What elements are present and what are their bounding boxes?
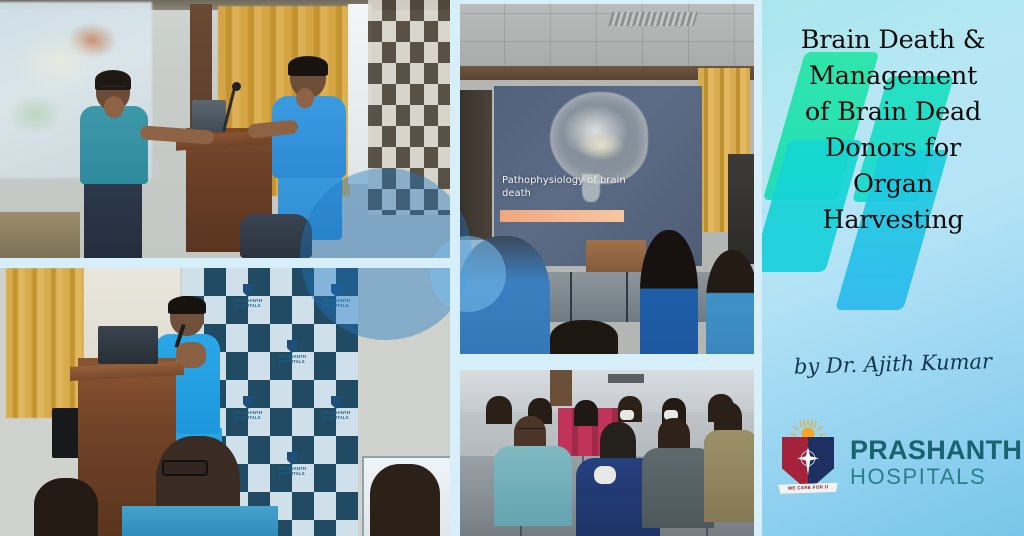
poster-root: PRASHANTH HOSPITALS PRASHANTH HOSPITALS … (0, 0, 1024, 536)
presenter-a-hand (104, 96, 124, 118)
backdrop-shield-icon (243, 396, 253, 409)
page-title: Brain Death & Management of Brain Dead D… (768, 22, 1018, 238)
attendee-glasses (518, 428, 544, 436)
brain-illustration (550, 92, 648, 184)
attendee-torso (494, 446, 572, 526)
photo-bottom-right (458, 370, 754, 536)
slide-title: Pathophysiology of brain death (502, 174, 632, 200)
audience-head (550, 320, 618, 354)
ceiling-tiles (458, 4, 754, 70)
foreground-attendee-torso (122, 506, 278, 536)
collage-separator (450, 354, 762, 370)
foreground-attendee-head (370, 464, 440, 536)
photo-center: Pathophysiology of brain death (458, 4, 754, 354)
title-line: Brain Death & (768, 22, 1018, 58)
microphone-head (232, 82, 241, 91)
brand-name: PRASHANTH (850, 437, 1022, 464)
branding-checkerboard (368, 0, 450, 215)
brand-wordmark: PRASHANTH HOSPITALS (850, 437, 1022, 488)
presenter-b-hair (288, 56, 328, 76)
photo-bottom-left: PRASHANTH HOSPITALS PRASHANTH HOSPITALS … (0, 268, 450, 536)
title-line: Donors for (768, 130, 1018, 166)
collage-separator (450, 0, 460, 536)
wall-column (550, 370, 572, 406)
audience-member (640, 230, 698, 354)
speaker-hair (168, 296, 206, 314)
attendee-head (574, 400, 598, 426)
title-line: Organ (768, 166, 1018, 202)
wall-sign (608, 374, 644, 383)
photo-top-left (0, 0, 450, 258)
backdrop-brand-sub: HOSPITALS (279, 471, 304, 476)
backdrop-shield-icon (331, 284, 341, 297)
attendee-torso (704, 430, 754, 522)
title-line: Harvesting (768, 202, 1018, 238)
hospital-crest-icon: WE CARE FOR U (776, 419, 840, 505)
equipment-bag (240, 214, 312, 258)
face-mask (594, 466, 616, 484)
backdrop-shield-icon (287, 340, 297, 353)
presenter-b-torso (272, 96, 346, 178)
ceiling-vent (608, 12, 698, 26)
presenter-a-legs (84, 180, 142, 258)
laptop (192, 100, 226, 132)
audience-member (706, 250, 754, 354)
foreground-attendee-glasses (162, 460, 208, 476)
collage-separator (0, 258, 452, 268)
gold-curtain (6, 268, 84, 418)
foreground-attendee-head (34, 478, 98, 536)
foreground-table (0, 212, 80, 258)
audience-member-foreground (458, 236, 550, 354)
backdrop-shield-icon (287, 452, 297, 465)
brand-subtitle: HOSPITALS (850, 466, 1022, 488)
backdrop-shield-icon (243, 284, 253, 297)
backdrop-shield-icon (331, 396, 341, 409)
backdrop-brand-sub: HOSPITALS (323, 415, 348, 420)
attendee-head (486, 396, 512, 424)
face-mask (620, 410, 634, 420)
title-line: of Brain Dead (768, 94, 1018, 130)
laptop (98, 326, 158, 364)
hospital-logo: WE CARE FOR U PRASHANTH HOSPITALS (776, 414, 1012, 510)
presenter-b-hand (296, 88, 314, 108)
photo-collage: PRASHANTH HOSPITALS PRASHANTH HOSPITALS … (0, 0, 762, 536)
eight-point-star-icon (797, 447, 819, 475)
backdrop-brand-sub: HOSPITALS (235, 303, 260, 308)
door-frame (458, 90, 492, 240)
author-byline: by Dr. Ajith Kumar (768, 349, 1019, 380)
presenter-a-glasses (100, 86, 126, 92)
title-panel: Brain Death & Management of Brain Dead D… (762, 0, 1024, 536)
slide-accent-bar (500, 210, 624, 222)
backdrop-brand-sub: HOSPITALS (323, 303, 348, 308)
backdrop-brand-sub: HOSPITALS (235, 415, 260, 420)
backdrop-brand-sub: HOSPITALS (279, 359, 304, 364)
side-wall (728, 154, 754, 264)
title-line: Management (768, 58, 1018, 94)
